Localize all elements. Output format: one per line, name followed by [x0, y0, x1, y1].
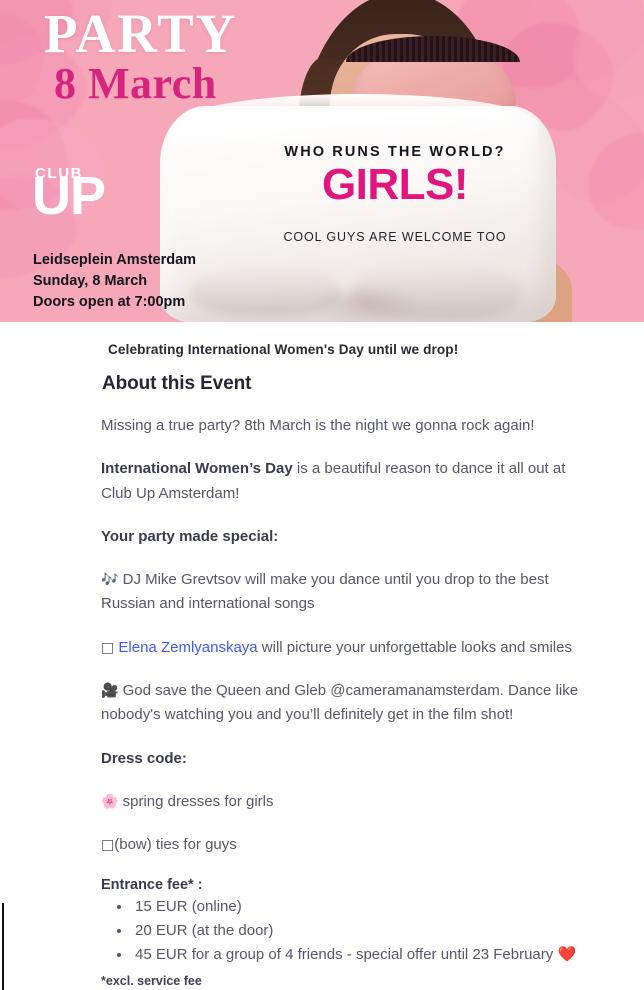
list-item: 15 EUR (online) [132, 895, 585, 919]
iwd-bold-lead: International Women’s Day [101, 460, 293, 477]
entrance-fee-footnote: *excl. service fee [101, 974, 585, 988]
paragraph-photographer: □ Elena Zemlyanskaya will picture your u… [101, 636, 585, 660]
dress-code-guys-text: (bow) ties for guys [114, 836, 237, 853]
cherry-blossom-icon: 🌸 [101, 794, 118, 810]
about-this-event-heading: About this Event [102, 373, 644, 395]
venue-details: Leidseplein Amsterdam Sunday, 8 March Do… [33, 250, 196, 313]
party-special-heading-text: Your party made special: [101, 528, 278, 545]
dress-code-girls-text: spring dresses for girls [118, 793, 273, 810]
description-body: Missing a true party? 8th March is the n… [101, 414, 585, 988]
paragraph-videographer-text: God save the Queen and Gleb @cameramanam… [101, 682, 578, 723]
event-tagline: Celebrating International Women's Day un… [108, 342, 644, 357]
slogan-subnote: COOL GUYS ARE WELCOME TOO [258, 230, 532, 244]
paragraph-intro-text: Missing a true party? 8th March is the n… [101, 417, 535, 434]
pillow-slogan: WHO RUNS THE WORLD? GIRLS! COOL GUYS ARE… [258, 144, 532, 244]
paragraph-iwd: International Women’s Day is a beautiful… [101, 457, 585, 506]
dress-code-heading-text: Dress code: [101, 750, 187, 767]
venue-doors: Doors open at 7:00pm [33, 292, 196, 313]
dress-code-guys: □(bow) ties for guys [101, 833, 585, 857]
photographer-link[interactable]: Elena Zemlyanskaya [118, 639, 257, 656]
dress-code-heading: Dress code: [101, 747, 585, 771]
event-description-section: Celebrating International Women's Day un… [0, 322, 644, 988]
movie-camera-icon: 🎥 [101, 683, 118, 699]
banner-date: 8 March [54, 62, 217, 106]
paragraph-intro: Missing a true party? 8th March is the n… [101, 414, 585, 438]
slogan-answer: GIRLS! [258, 162, 532, 208]
paragraph-photographer-rest: will picture your unforgettable looks an… [258, 639, 572, 656]
slogan-question: WHO RUNS THE WORLD? [258, 144, 532, 160]
club-up-logo: CLUB UP [32, 166, 105, 218]
camera-icon: □ [101, 640, 114, 656]
paragraph-dj: 🎶 DJ Mike Grevtsov will make you dance u… [101, 568, 585, 617]
bowtie-icon: □ [101, 837, 114, 853]
party-special-heading: Your party made special: [101, 525, 585, 549]
left-edge-rule [2, 903, 4, 990]
venue-day: Sunday, 8 March [33, 271, 196, 292]
musical-notes-icon: 🎶 [101, 572, 118, 588]
venue-location: Leidseplein Amsterdam [33, 250, 196, 271]
list-item: 20 EUR (at the door) [132, 919, 585, 943]
paragraph-dj-text: DJ Mike Grevtsov will make you dance unt… [101, 571, 549, 612]
logo-club-word: CLUB [35, 166, 105, 181]
paragraph-videographer: 🎥 God save the Queen and Gleb @cameraman… [101, 679, 585, 728]
entrance-fee-list: 15 EUR (online) 20 EUR (at the door) 45 … [101, 895, 585, 967]
event-hero-banner: PARTY 8 March CLUB UP Leidseplein Amster… [0, 0, 644, 322]
sleep-mask-frill-top [346, 36, 520, 62]
list-item: 45 EUR for a group of 4 friends - specia… [132, 943, 585, 967]
banner-title: PARTY [44, 6, 237, 61]
dress-code-girls: 🌸 spring dresses for girls [101, 790, 585, 814]
entrance-fee-heading: Entrance fee* : [101, 877, 585, 893]
